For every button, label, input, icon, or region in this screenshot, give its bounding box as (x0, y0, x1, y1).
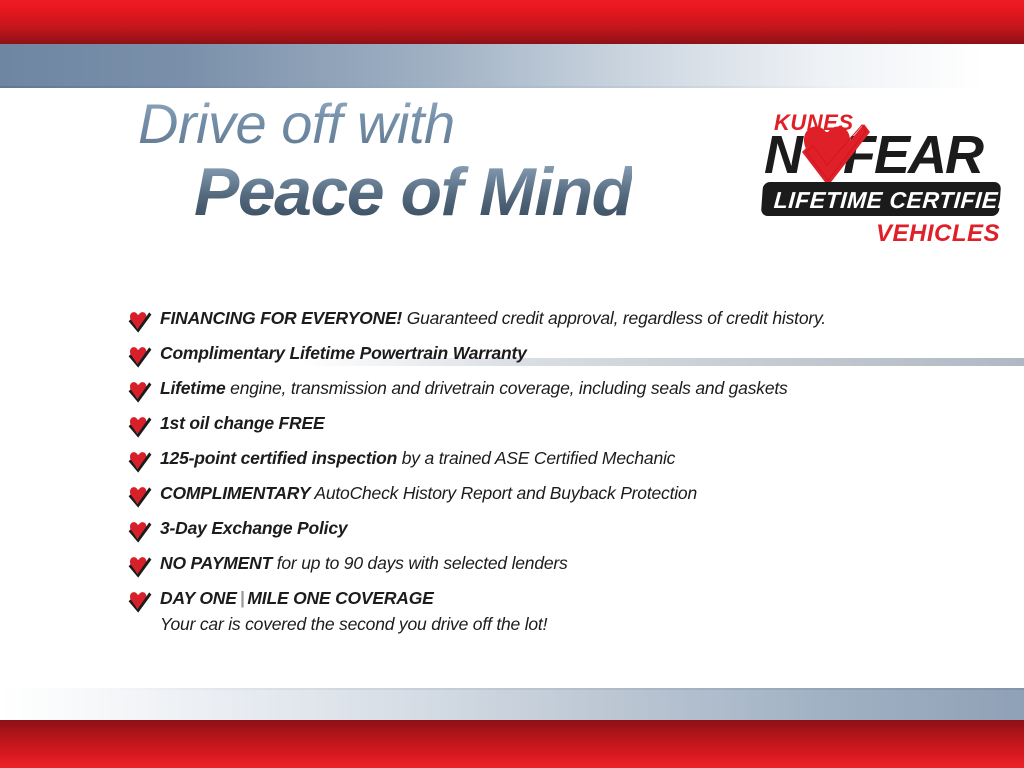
list-item: 1st oil change FREE (128, 413, 948, 438)
bottom-gray-gradient-band (0, 688, 1024, 720)
list-item-bold: 3-Day Exchange Policy (160, 518, 347, 538)
list-item-group: DAY ONE|MILE ONE COVERAGE Your car is co… (160, 588, 547, 635)
list-item-normal: by a trained ASE Certified Mechanic (397, 448, 675, 468)
list-item-normal: Guaranteed credit approval, regardless o… (402, 308, 826, 328)
list-item-bold: Lifetime (160, 378, 226, 398)
list-item-bold: DAY ONE (160, 588, 237, 608)
list-item-separator: | (237, 588, 248, 608)
list-item: DAY ONE|MILE ONE COVERAGE Your car is co… (128, 588, 948, 635)
list-item: 125-point certified inspection by a trai… (128, 448, 948, 473)
list-item-bold: FINANCING FOR EVERYONE! (160, 308, 402, 328)
list-item-bold: NO PAYMENT (160, 553, 272, 573)
logo-bar-text: LIFETIME CERTIFIED (773, 187, 1016, 214)
list-item-text: 3-Day Exchange Policy (160, 518, 347, 540)
heart-check-icon (128, 451, 152, 473)
list-item: Lifetime engine, transmission and drivet… (128, 378, 948, 403)
list-item-normal: AutoCheck History Report and Buyback Pro… (310, 483, 697, 503)
list-item-bold: 1st oil change FREE (160, 413, 324, 433)
headline-line-2: Peace of Mind (194, 158, 632, 226)
feature-list: FINANCING FOR EVERYONE! Guaranteed credi… (128, 308, 948, 645)
top-gray-gradient-band (0, 44, 1024, 88)
list-item-normal: for up to 90 days with selected lenders (272, 553, 568, 573)
list-item-text: FINANCING FOR EVERYONE! Guaranteed credi… (160, 308, 826, 330)
list-item: COMPLIMENTARY AutoCheck History Report a… (128, 483, 948, 508)
bottom-red-band (0, 720, 1024, 768)
heart-check-icon (128, 486, 152, 508)
list-item: FINANCING FOR EVERYONE! Guaranteed credi… (128, 308, 948, 333)
kunes-no-fear-logo: KUNES NFEAR LIFETIME CERTIFIED VEHICLES (760, 104, 1008, 254)
heart-check-icon (128, 311, 152, 333)
logo-vehicles-text: VEHICLES (876, 220, 1000, 248)
heart-check-icon (796, 122, 870, 190)
list-item-text: DAY ONE|MILE ONE COVERAGE (160, 588, 547, 610)
list-item-subtext: Your car is covered the second you drive… (160, 614, 547, 635)
list-item: 3-Day Exchange Policy (128, 518, 948, 543)
heart-check-icon (128, 591, 152, 613)
list-item-text: 1st oil change FREE (160, 413, 324, 435)
list-item-bold: COMPLIMENTARY (160, 483, 310, 503)
heart-check-icon (128, 556, 152, 578)
list-item-text: Lifetime engine, transmission and drivet… (160, 378, 788, 400)
page-title: Drive off with Peace of Mind (138, 96, 632, 226)
heart-check-icon (128, 346, 152, 368)
header: Drive off with Peace of Mind KUNES NFEAR… (0, 96, 1024, 268)
list-item: Complimentary Lifetime Powertrain Warran… (128, 343, 948, 368)
list-item-bold-2: MILE ONE COVERAGE (247, 588, 433, 608)
headline-line-1: Drive off with (138, 96, 632, 152)
heart-check-icon (128, 521, 152, 543)
list-item-text: Complimentary Lifetime Powertrain Warran… (160, 343, 527, 365)
list-item-text: COMPLIMENTARY AutoCheck History Report a… (160, 483, 697, 505)
top-red-band (0, 0, 1024, 44)
heart-check-icon (128, 416, 152, 438)
list-item-text: NO PAYMENT for up to 90 days with select… (160, 553, 568, 575)
list-item: NO PAYMENT for up to 90 days with select… (128, 553, 948, 578)
list-item-text: 125-point certified inspection by a trai… (160, 448, 675, 470)
list-item-bold: Complimentary Lifetime Powertrain Warran… (160, 343, 527, 363)
heart-check-icon (128, 381, 152, 403)
list-item-normal: engine, transmission and drivetrain cove… (226, 378, 788, 398)
list-item-bold: 125-point certified inspection (160, 448, 397, 468)
logo-lifetime-certified-bar: LIFETIME CERTIFIED (761, 182, 1001, 216)
